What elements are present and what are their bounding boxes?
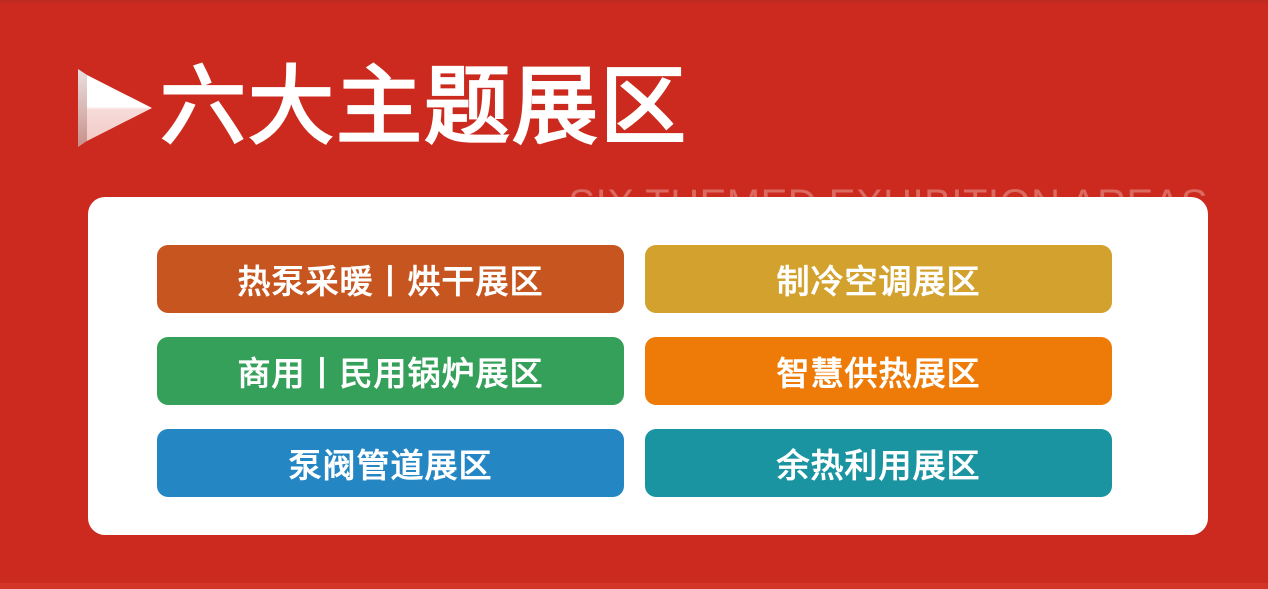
zones-card: 热泵采暖丨烘干展区 制冷空调展区 商用丨民用锅炉展区 智慧供热展区 泵阀管道展区… (88, 197, 1208, 535)
header: 六大主题展区 SIX THEMED EXHIBITION AREAS (78, 52, 1208, 182)
zone-button-label: 智慧供热展区 (777, 347, 981, 395)
play-triangle-icon (78, 69, 152, 147)
bottom-edge-divider (0, 583, 1268, 589)
zone-grid: 热泵采暖丨烘干展区 制冷空调展区 商用丨民用锅炉展区 智慧供热展区 泵阀管道展区… (157, 245, 1112, 497)
zone-button-waste-heat[interactable]: 余热利用展区 (645, 429, 1112, 497)
zone-button-label: 热泵采暖丨烘干展区 (238, 255, 544, 303)
zone-button-label: 泵阀管道展区 (289, 439, 493, 487)
zone-button-label: 余热利用展区 (777, 439, 981, 487)
top-edge-divider (0, 0, 1268, 3)
zone-button-smart-heating[interactable]: 智慧供热展区 (645, 337, 1112, 405)
zone-button-refrigeration-ac[interactable]: 制冷空调展区 (645, 245, 1112, 313)
zone-button-boiler[interactable]: 商用丨民用锅炉展区 (157, 337, 624, 405)
zone-button-label: 制冷空调展区 (777, 255, 981, 303)
zone-button-heat-pump[interactable]: 热泵采暖丨烘干展区 (157, 245, 624, 313)
zone-button-label: 商用丨民用锅炉展区 (238, 347, 544, 395)
page-title: 六大主题展区 (160, 52, 688, 162)
poster-root: 六大主题展区 SIX THEMED EXHIBITION AREAS 热泵采暖丨… (0, 0, 1268, 589)
zone-button-pump-valve-pipe[interactable]: 泵阀管道展区 (157, 429, 624, 497)
